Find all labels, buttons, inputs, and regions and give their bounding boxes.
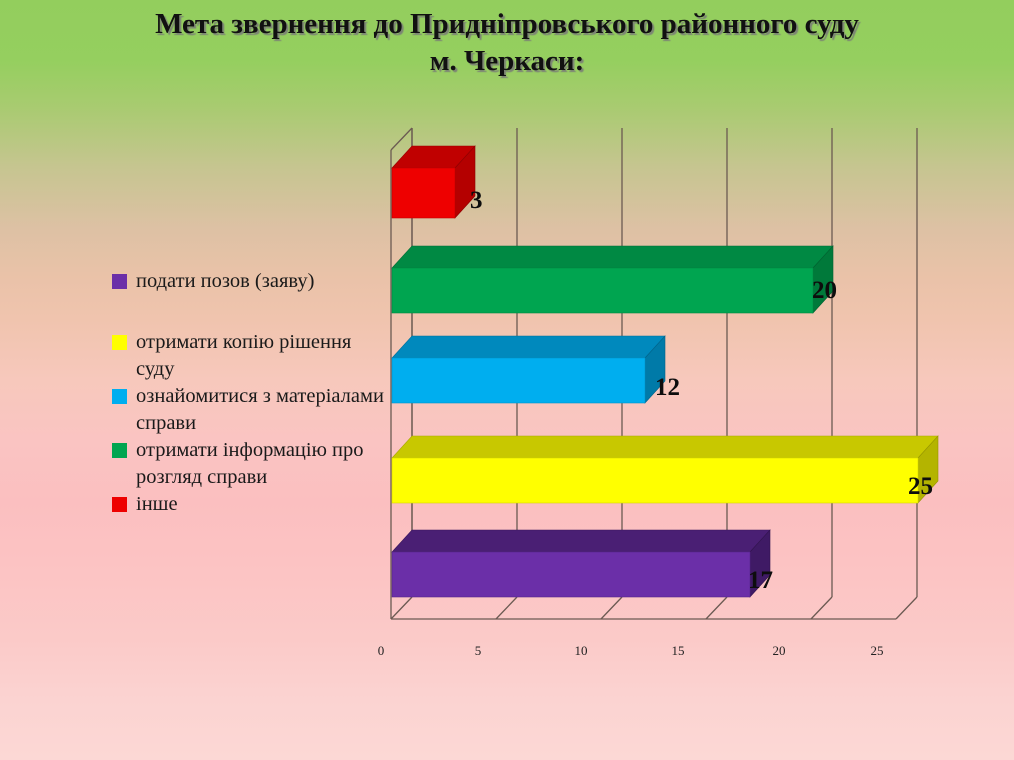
bar-inshe[interactable] [392,146,475,218]
bar-otrymaty-informatsiyu[interactable] [392,246,833,313]
x-tick-label: 15 [672,643,685,658]
bar-chart: 0 5 10 15 20 25 3 20 12 25 17 [0,0,1014,760]
x-axis-tick-labels: 0 5 10 15 20 25 [378,643,884,658]
bar-value-label: 20 [812,277,837,304]
x-tick-label: 20 [773,643,786,658]
bar-otrymaty-kopiyu[interactable] [392,436,938,503]
bar-value-label: 3 [470,187,483,214]
x-tick-label: 10 [575,643,588,658]
bar-oznayomytysya[interactable] [392,336,665,403]
bar-podaty-pozov[interactable] [392,530,770,597]
bar-value-label: 17 [748,567,773,594]
bar-value-label: 25 [908,473,933,500]
bar-value-label: 12 [655,374,680,401]
x-tick-label: 5 [475,643,482,658]
x-tick-label: 25 [871,643,884,658]
x-tick-label: 0 [378,643,385,658]
